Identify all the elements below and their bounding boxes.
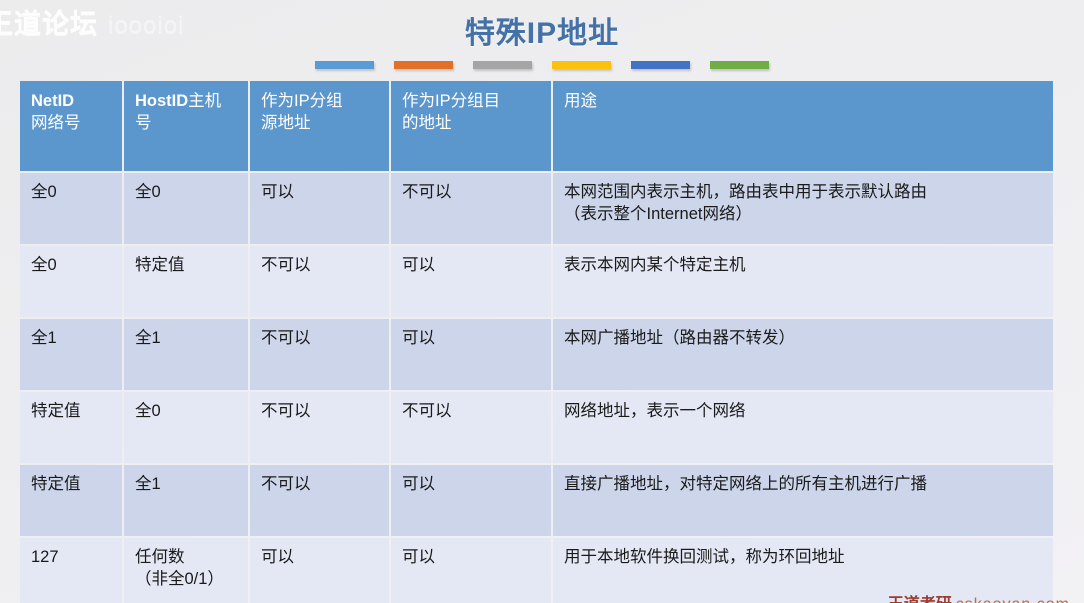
cell-as-destination: 可以 (391, 319, 551, 390)
column-header-as-destination-address: 作为IP分组目 的地址 (391, 81, 551, 171)
cell-as-source: 不可以 (250, 319, 389, 390)
bar-blue-light-icon (315, 61, 374, 69)
watermark-bottom-right-brand: 王道考研 (888, 596, 952, 603)
column-header-hostid-cjk: 主机 (188, 92, 221, 110)
bar-blue-dark-icon (631, 61, 690, 69)
table-row: 全0 特定值 不可以 可以 表示本网内某个特定主机 (20, 246, 1053, 317)
table-row: 特定值 全0 不可以 不可以 网络地址，表示一个网络 (20, 392, 1053, 463)
special-ip-address-table: NetID 网络号 HostID主机 号 作为IP分组 源地址 作为IP分组目 … (18, 79, 1055, 603)
cell-hostid: 全0 (124, 173, 248, 244)
cell-as-destination: 不可以 (391, 392, 551, 463)
cell-as-destination: 可以 (391, 246, 551, 317)
cell-netid: 全1 (20, 319, 122, 390)
cell-netid: 特定值 (20, 465, 122, 536)
cell-as-destination: 不可以 (391, 173, 551, 244)
column-header-netid-line1: NetID (31, 92, 74, 110)
column-header-as-dest-line2: 的地址 (402, 113, 542, 135)
column-header-hostid-line2: 号 (135, 113, 239, 135)
column-header-as-source-line1: 作为IP分组 (261, 92, 343, 110)
cell-purpose-line2: （表示整个Internet网络） (564, 204, 1044, 226)
cell-as-source: 可以 (250, 173, 389, 244)
cell-netid: 127 (20, 538, 122, 603)
bar-green-icon (710, 61, 769, 69)
cell-purpose: 本网范围内表示主机，路由表中用于表示默认路由 （表示整个Internet网络） (553, 173, 1053, 244)
title-decoration-bars (0, 61, 1084, 69)
cell-hostid: 特定值 (124, 246, 248, 317)
cell-netid: 全0 (20, 246, 122, 317)
table-row: 全0 全0 可以 不可以 本网范围内表示主机，路由表中用于表示默认路由 （表示整… (20, 173, 1053, 244)
cell-netid: 全0 (20, 173, 122, 244)
cell-as-destination: 可以 (391, 538, 551, 603)
bar-orange-icon (394, 61, 453, 69)
watermark-bottom-right-url: cskaoyan.com (956, 596, 1070, 603)
cell-purpose: 直接广播地址，对特定网络上的所有主机进行广播 (553, 465, 1053, 536)
cell-netid: 特定值 (20, 392, 122, 463)
cell-purpose: 表示本网内某个特定主机 (553, 246, 1053, 317)
column-header-hostid-latin: HostID (135, 92, 188, 110)
cell-as-source: 不可以 (250, 246, 389, 317)
cell-hostid-line1: 任何数 (135, 548, 185, 566)
cell-hostid: 全1 (124, 319, 248, 390)
watermark-bottom-right: 王道考研cskaoyan.com (888, 590, 1070, 603)
bar-yellow-icon (552, 61, 611, 69)
cell-purpose-line1: 本网范围内表示主机，路由表中用于表示默认路由 (564, 183, 927, 201)
column-header-as-source-line2: 源地址 (261, 113, 380, 135)
cell-as-source: 不可以 (250, 465, 389, 536)
column-header-netid: NetID 网络号 (20, 81, 122, 171)
cell-as-destination: 可以 (391, 465, 551, 536)
column-header-purpose-line1: 用途 (564, 92, 597, 110)
cell-hostid: 全1 (124, 465, 248, 536)
cell-hostid: 任何数 （非全0/1） (124, 538, 248, 603)
cell-as-source: 不可以 (250, 392, 389, 463)
column-header-hostid: HostID主机 号 (124, 81, 248, 171)
table-row: 全1 全1 不可以 可以 本网广播地址（路由器不转发） (20, 319, 1053, 390)
cell-purpose: 网络地址，表示一个网络 (553, 392, 1053, 463)
cell-hostid-line2: （非全0/1） (135, 569, 239, 591)
bar-gray-icon (473, 61, 532, 69)
column-header-as-source-address: 作为IP分组 源地址 (250, 81, 389, 171)
table-row: 特定值 全1 不可以 可以 直接广播地址，对特定网络上的所有主机进行广播 (20, 465, 1053, 536)
page-title: 特殊IP地址 (0, 8, 1084, 52)
cell-purpose: 本网广播地址（路由器不转发） (553, 319, 1053, 390)
column-header-purpose: 用途 (553, 81, 1053, 171)
column-header-netid-line2: 网络号 (31, 113, 113, 135)
cell-as-source: 可以 (250, 538, 389, 603)
cell-hostid: 全0 (124, 392, 248, 463)
table-header-row: NetID 网络号 HostID主机 号 作为IP分组 源地址 作为IP分组目 … (20, 81, 1053, 171)
slide-canvas: 王道论坛ioooioi 特殊IP地址 NetID 网络号 HostID主机 号 (0, 0, 1084, 603)
column-header-as-dest-line1: 作为IP分组目 (402, 92, 500, 110)
